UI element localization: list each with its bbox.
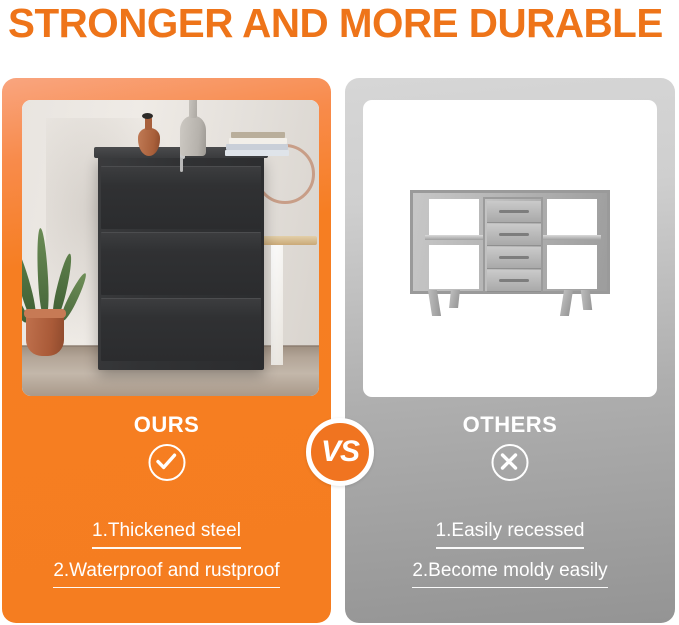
sideboard-leg — [449, 290, 460, 308]
open-shelf-cavity — [429, 199, 479, 235]
feature-underline — [53, 587, 279, 589]
sideboard-drawer — [487, 201, 541, 223]
book — [225, 150, 289, 156]
shelf-board — [425, 235, 483, 240]
wooden-sideboard — [410, 190, 610, 318]
others-product-image — [363, 100, 657, 397]
cabinet-drawer — [101, 232, 261, 295]
table-leg — [271, 245, 283, 365]
book-stack — [226, 130, 288, 156]
others-feature-list: 1.Easily recessed 2.Become moldy easily — [345, 518, 675, 597]
table-top — [259, 236, 317, 245]
comparison-infographic: STRONGER AND MORE DURABLE — [0, 0, 679, 625]
side-table — [259, 236, 317, 364]
room-scene — [22, 100, 319, 396]
grey-bottle-vase — [180, 116, 206, 156]
feature-underline — [412, 587, 607, 589]
page-title: STRONGER AND MORE DURABLE — [8, 0, 663, 48]
sideboard-body — [410, 190, 610, 294]
x-circle-icon — [492, 444, 529, 481]
ours-feature-list: 1.Thickened steel 2.Waterproof and rustp… — [2, 518, 331, 597]
ours-panel: OURS 1.Thickened steel 2.Waterproof and … — [2, 78, 331, 623]
list-item: 2.Waterproof and rustproof — [53, 558, 279, 589]
others-heading: OTHERS — [345, 412, 675, 438]
cabinet-drawer — [101, 166, 261, 229]
list-item: 1.Easily recessed — [436, 518, 585, 549]
list-item: 2.Become moldy easily — [412, 558, 607, 589]
ours-product-image — [22, 100, 319, 396]
cabinet-drawer — [101, 298, 261, 361]
plant-pot — [26, 312, 64, 356]
check-circle-icon — [148, 444, 185, 481]
others-panel: OTHERS 1.Easily recessed 2.Become moldy … — [345, 78, 675, 623]
feature-text: 2.Waterproof and rustproof — [53, 558, 279, 584]
ours-heading: OURS — [2, 412, 331, 438]
sideboard-drawer — [487, 247, 541, 269]
feature-text: 1.Easily recessed — [436, 518, 585, 544]
vs-badge: VS — [306, 418, 374, 486]
open-shelf-cavity — [547, 245, 597, 289]
feature-underline — [436, 547, 585, 549]
feature-underline — [92, 547, 241, 549]
list-item: 1.Thickened steel — [92, 518, 241, 549]
shelf-board — [543, 235, 601, 240]
feature-text: 2.Become moldy easily — [412, 558, 607, 584]
open-shelf-cavity — [429, 245, 479, 289]
sideboard-drawer — [487, 270, 541, 292]
drawer-column — [483, 197, 543, 293]
filing-cabinet — [98, 156, 264, 370]
cabinet-key — [180, 158, 183, 172]
open-shelf-cavity — [547, 199, 597, 235]
sideboard-drawer — [487, 224, 541, 246]
feature-text: 1.Thickened steel — [92, 518, 241, 544]
